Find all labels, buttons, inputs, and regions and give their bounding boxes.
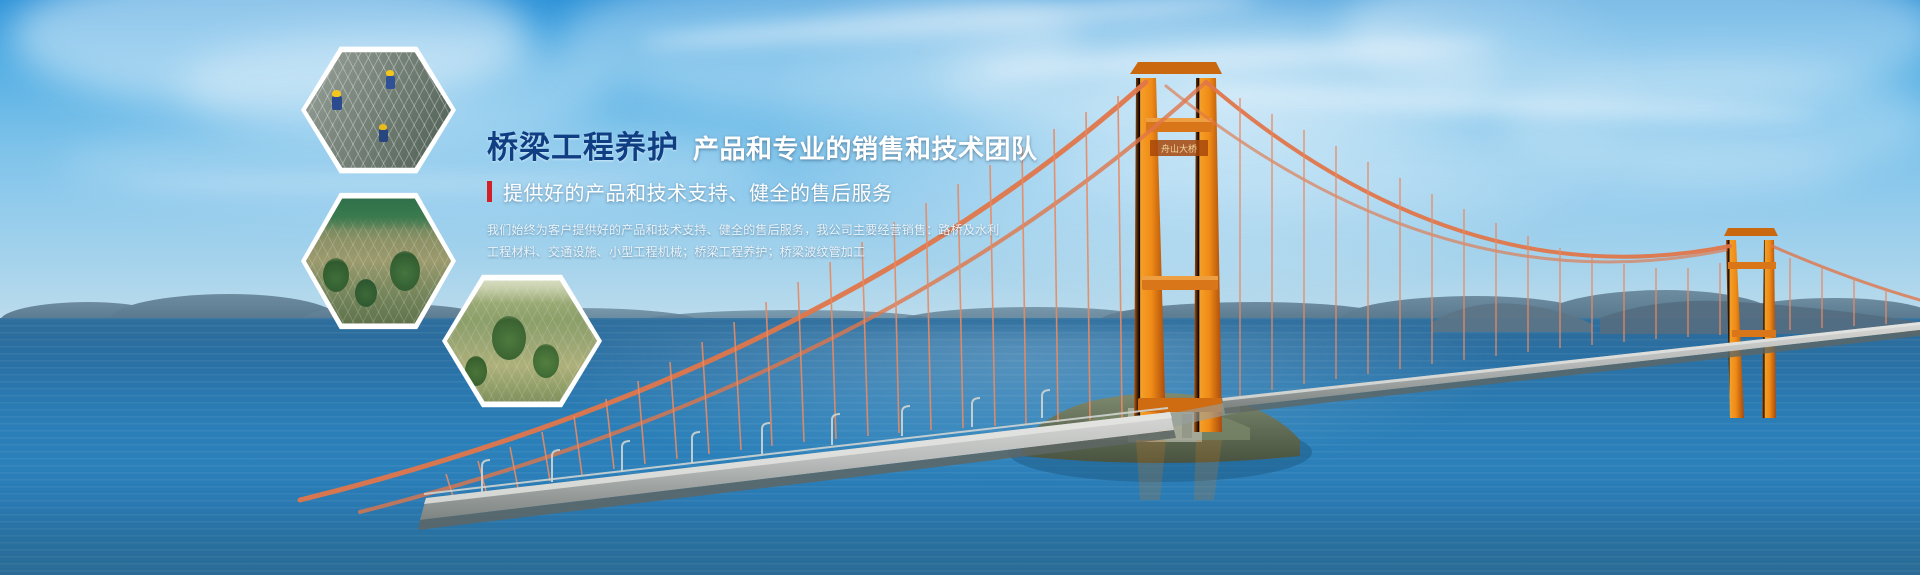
banner-description: 我们始终为客户提供好的产品和技术支持、健全的售后服务，我公司主要经营销售：路桥及… [487,222,1007,261]
hex-photo-2[interactable] [301,190,456,332]
hex-photo-1[interactable] [301,44,456,176]
suspension-bridge-illustration: 舟山大桥 [0,0,1920,575]
hero-banner: 舟山大桥 [0,0,1920,575]
description-line: 我们始终为客户提供好的产品和技术支持、健全的售后服务，我公司主要经营销售：路桥及… [487,222,1007,239]
headline-secondary: 产品和专业的销售和技术团队 [693,129,1038,166]
banner-headline: 桥梁工程养护 产品和专业的销售和技术团队 [487,122,1007,167]
subtitle-accent-bar [487,181,492,202]
subtitle-text: 提供好的产品和技术支持、健全的售后服务 [503,177,893,206]
hex-photo-3[interactable] [442,272,602,410]
description-line: 工程材料、交通设施、小型工程机械；桥梁工程养护；桥梁波纹管加工 [487,244,1007,261]
banner-subtitle: 提供好的产品和技术支持、健全的售后服务 [487,177,1007,206]
banner-text-block: 桥梁工程养护 产品和专业的销售和技术团队 提供好的产品和技术支持、健全的售后服务… [487,122,1007,266]
bridge-deck-right [1222,322,1920,414]
headline-primary: 桥梁工程养护 [487,122,679,167]
distant-island-right [1432,301,1920,334]
bridge-hangers-right [1240,98,1886,396]
svg-text:舟山大桥: 舟山大桥 [1161,143,1197,155]
